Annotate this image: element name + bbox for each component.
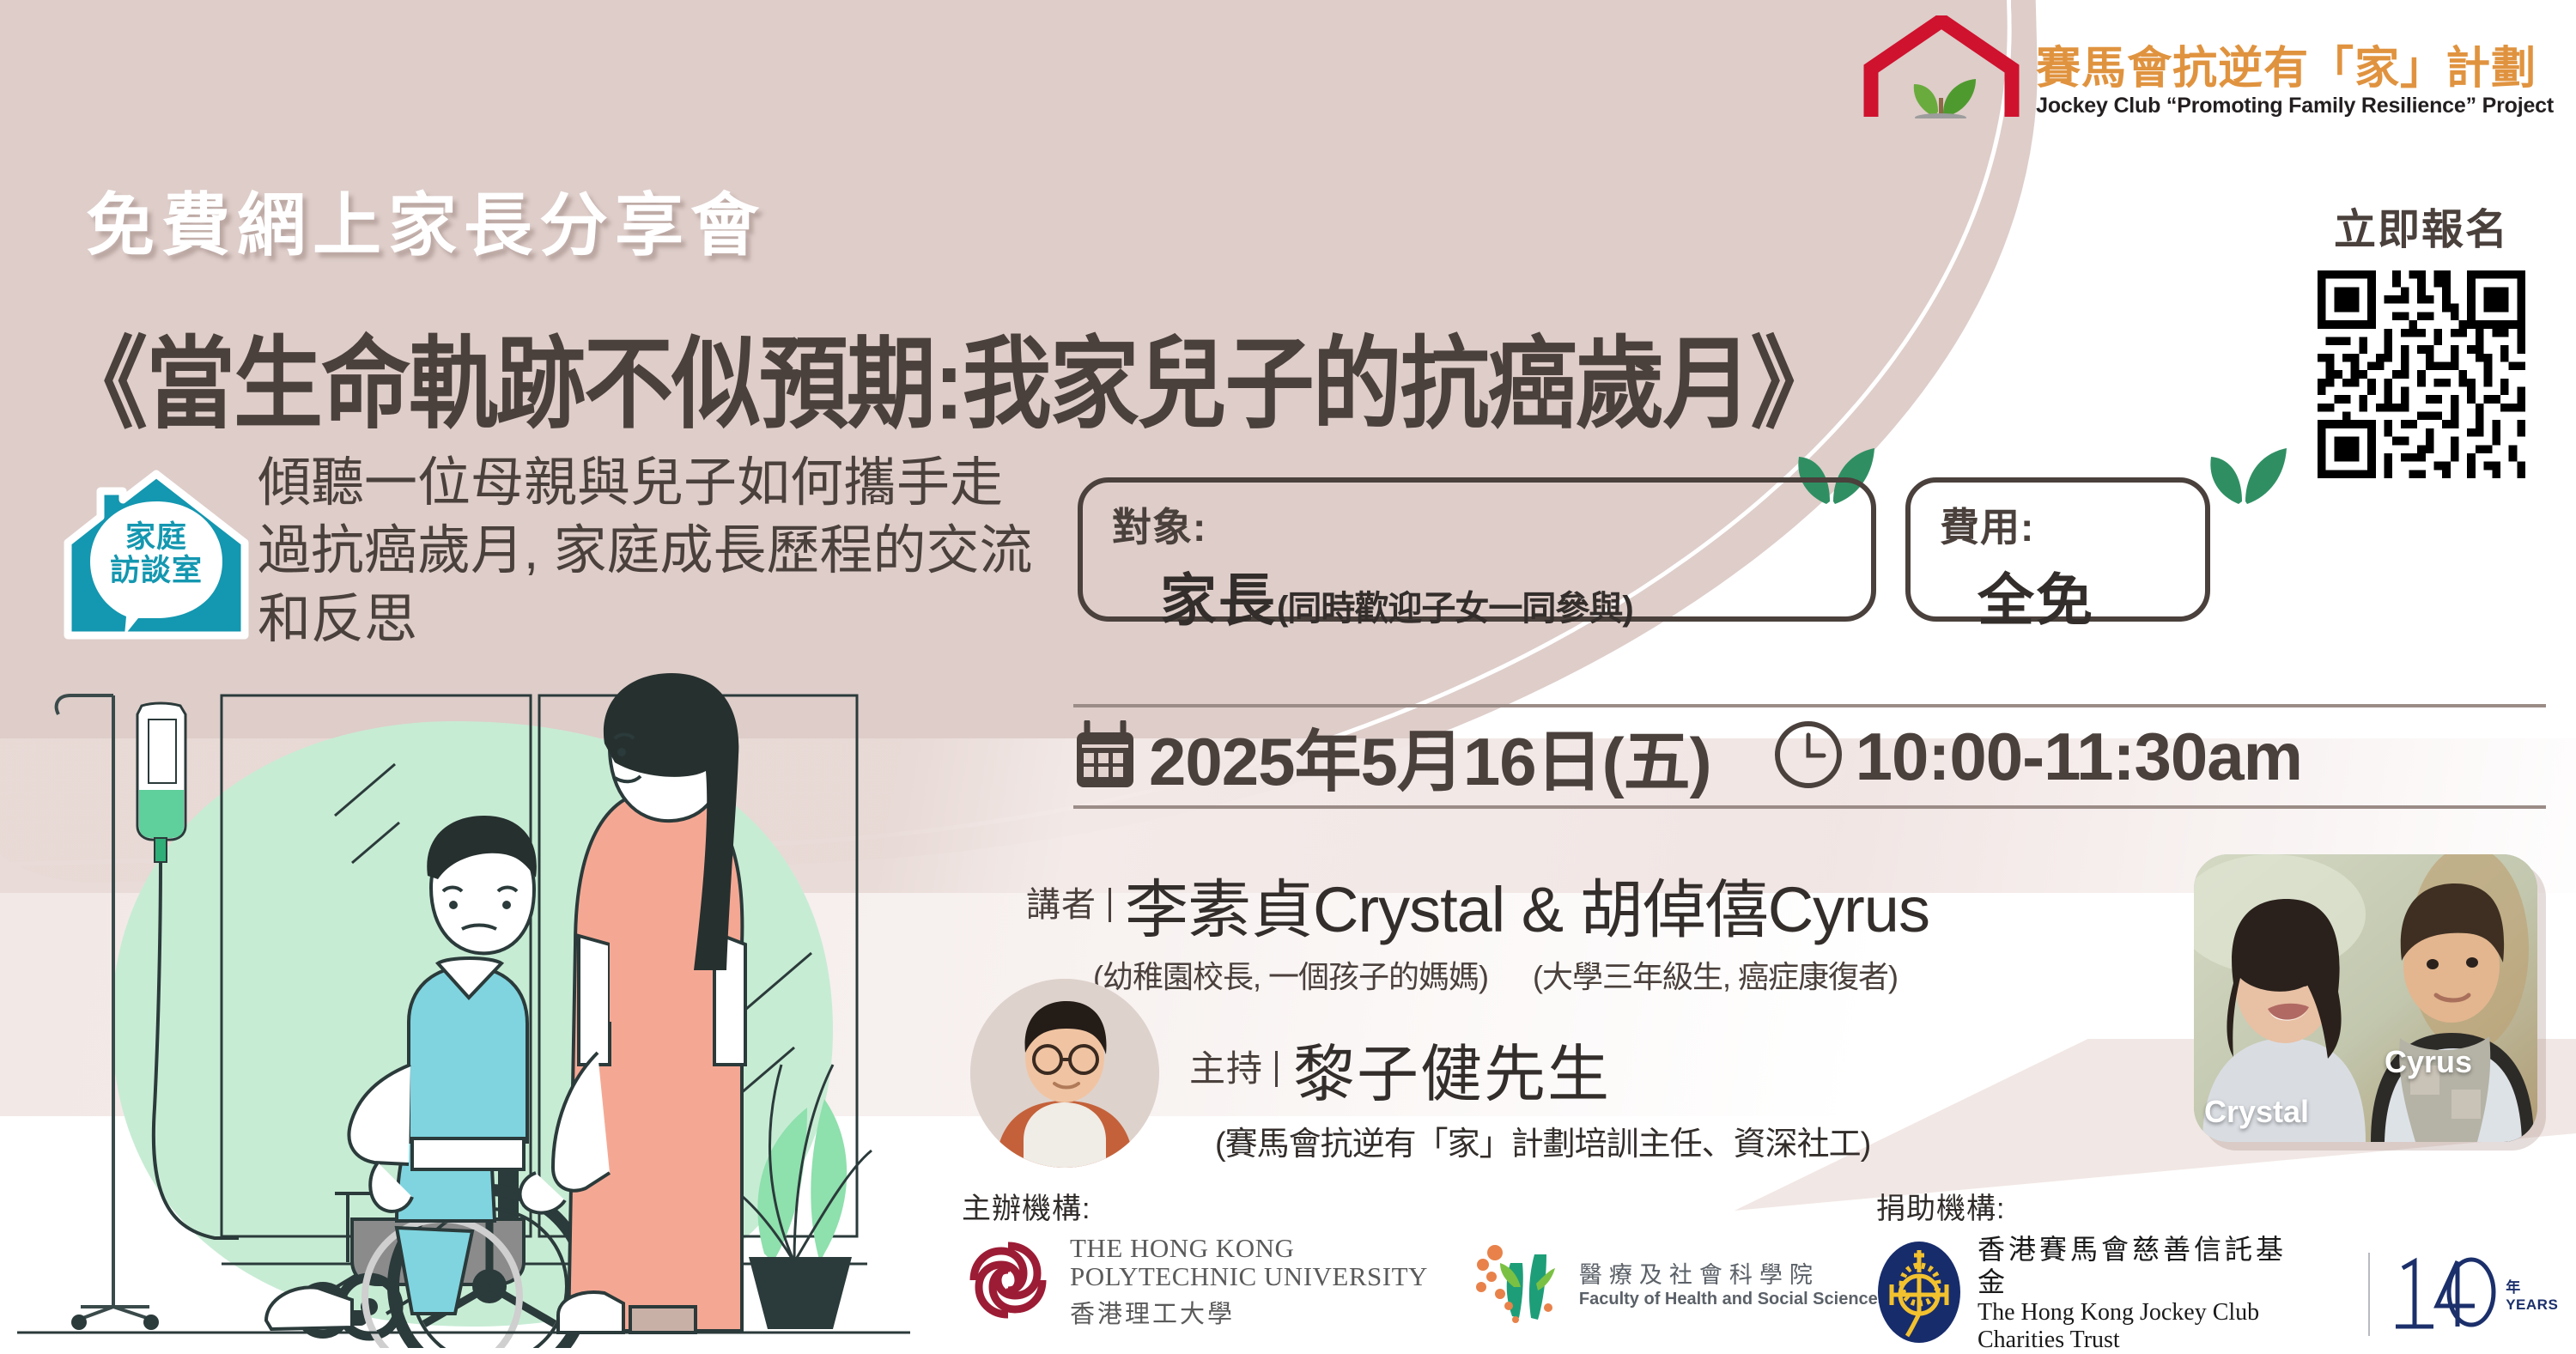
- host-name: 黎子健先生: [1293, 1023, 1611, 1114]
- fee-box: 費用: 全免: [1905, 477, 2210, 622]
- host-block: 主持 黎子健先生 (賽馬會抗逆有「家」計劃培訓主任、資深社工): [1189, 1023, 2151, 1164]
- date-item: 2025年5月16日(五): [1073, 708, 1711, 805]
- hkjc-logo: 香港賽馬會慈善信託基金 The Hong Kong Jockey Club Ch…: [1876, 1234, 2313, 1354]
- host-role-label: 主持: [1189, 1051, 1278, 1087]
- hkjc-name-zh: 香港賽馬會慈善信託基金: [1978, 1234, 2313, 1299]
- clock-icon: [1773, 720, 1844, 794]
- audience-box: 對象: 家長 (同時歡迎子女一同參與): [1078, 477, 1876, 622]
- fhss-name-en: Faculty of Health and Social Sciences: [1579, 1290, 1887, 1309]
- speakers-block: 講者 李素貞Crystal & 胡倬僖Cyrus (幼稚園校長, 一個孩子的媽媽…: [1026, 859, 2160, 997]
- page-title: 《當生命軌跡不似預期:我家兒子的抗癌歲月》: [58, 302, 1838, 447]
- polyu-name-line1: THE HONG KONG: [1070, 1235, 1428, 1263]
- fee-value: 全免: [1978, 555, 2094, 637]
- registration-block[interactable]: 立即報名: [2297, 196, 2546, 487]
- anniversary-number: [2392, 1253, 2497, 1336]
- house-roof-icon: [1856, 15, 2027, 118]
- fhss-logo: 醫療及社會科學院 Faculty of Health and Social Sc…: [1474, 1234, 1887, 1331]
- qr-code[interactable]: [2309, 262, 2534, 487]
- photo-label-crystal: Crystal: [2204, 1094, 2309, 1130]
- polyu-name-zh: 香港理工大學: [1070, 1294, 1428, 1330]
- polyu-emblem-icon: [962, 1234, 1054, 1331]
- speaker-2-subtitle: (大學三年級生, 癌症康復者): [1533, 952, 1898, 997]
- description-text: 傾聽一位母親與兒子如何攜手走過抗癌歲月, 家庭成長歷程的交流和反思: [258, 449, 1048, 653]
- polyu-logo: THE HONG KONG POLYTECHNIC UNIVERSITY 香港理…: [962, 1234, 1428, 1331]
- project-logo: 賽馬會抗逆有「家」計劃 Jockey Club “Promoting Famil…: [1856, 15, 2554, 118]
- organiser-block: 主辦機構: THE HONG KONG POLYTECHNIC U: [962, 1185, 1887, 1331]
- time-item: 10:00-11:30am: [1773, 718, 2302, 796]
- audience-label: 對象:: [1112, 496, 1847, 553]
- event-date: 2025年5月16日(五): [1149, 708, 1711, 805]
- fhss-name-zh: 醫療及社會科學院: [1579, 1256, 1887, 1290]
- fhss-emblem-icon: [1474, 1234, 1567, 1331]
- organiser-label: 主辦機構:: [962, 1185, 1887, 1227]
- speakers-photo: Crystal Cyrus: [2194, 854, 2537, 1142]
- speakers-role-label: 講者: [1026, 888, 1111, 922]
- speaker-1-subtitle: (幼稚園校長, 一個孩子的媽媽): [1093, 952, 1488, 997]
- polyu-name-line2: POLYTECHNIC UNIVERSITY: [1070, 1263, 1428, 1291]
- project-logo-en: Jockey Club “Promoting Family Resilience…: [2036, 94, 2554, 118]
- speakers-names: 李素貞Crystal & 胡倬僖Cyrus: [1125, 859, 1929, 950]
- hkjc-emblem-icon: [1876, 1240, 1962, 1349]
- host-subtitle: (賽馬會抗逆有「家」計劃培訓主任、資深社工): [1189, 1117, 2151, 1164]
- hkjc-name-en1: The Hong Kong Jockey Club: [1978, 1299, 2313, 1327]
- host-avatar: [970, 979, 1159, 1168]
- family-interview-room-badge: 家庭 訪談室: [49, 453, 264, 642]
- anniversary-years: 年 YEARS: [2506, 1275, 2576, 1314]
- badge-label-line2: 訪談室: [49, 554, 264, 587]
- hospital-illustration: [9, 661, 919, 1348]
- event-time: 10:00-11:30am: [1856, 718, 2302, 796]
- kicker-text: 免費網上家長分享會: [86, 170, 766, 270]
- fee-label: 費用:: [1940, 496, 2181, 553]
- hkjc-name-en2: Charities Trust: [1978, 1327, 2313, 1354]
- photo-label-cyrus: Cyrus: [2385, 1044, 2472, 1080]
- project-logo-zh: 賽馬會抗逆有「家」計劃: [2036, 46, 2554, 92]
- funder-label: 捐助機構:: [1876, 1185, 2576, 1227]
- badge-label: 家庭 訪談室: [49, 520, 264, 587]
- audience-value: 家長: [1160, 555, 1277, 637]
- register-label: 立即報名: [2297, 196, 2546, 257]
- schedule-bar: 2025年5月16日(五) 10:00-11:30am: [1073, 704, 2546, 809]
- badge-label-line1: 家庭: [49, 520, 264, 554]
- info-boxes: 對象: 家長 (同時歡迎子女一同參與) 費用: 全免: [1078, 477, 2210, 622]
- calendar-icon: [1073, 720, 1137, 793]
- anniversary-logo: 年 YEARS: [2368, 1253, 2576, 1336]
- audience-note: (同時歡迎子女一同參與): [1277, 580, 1633, 630]
- funder-block: 捐助機構:: [1876, 1185, 2576, 1354]
- poster-root: 賽馬會抗逆有「家」計劃 Jockey Club “Promoting Famil…: [0, 0, 2576, 1354]
